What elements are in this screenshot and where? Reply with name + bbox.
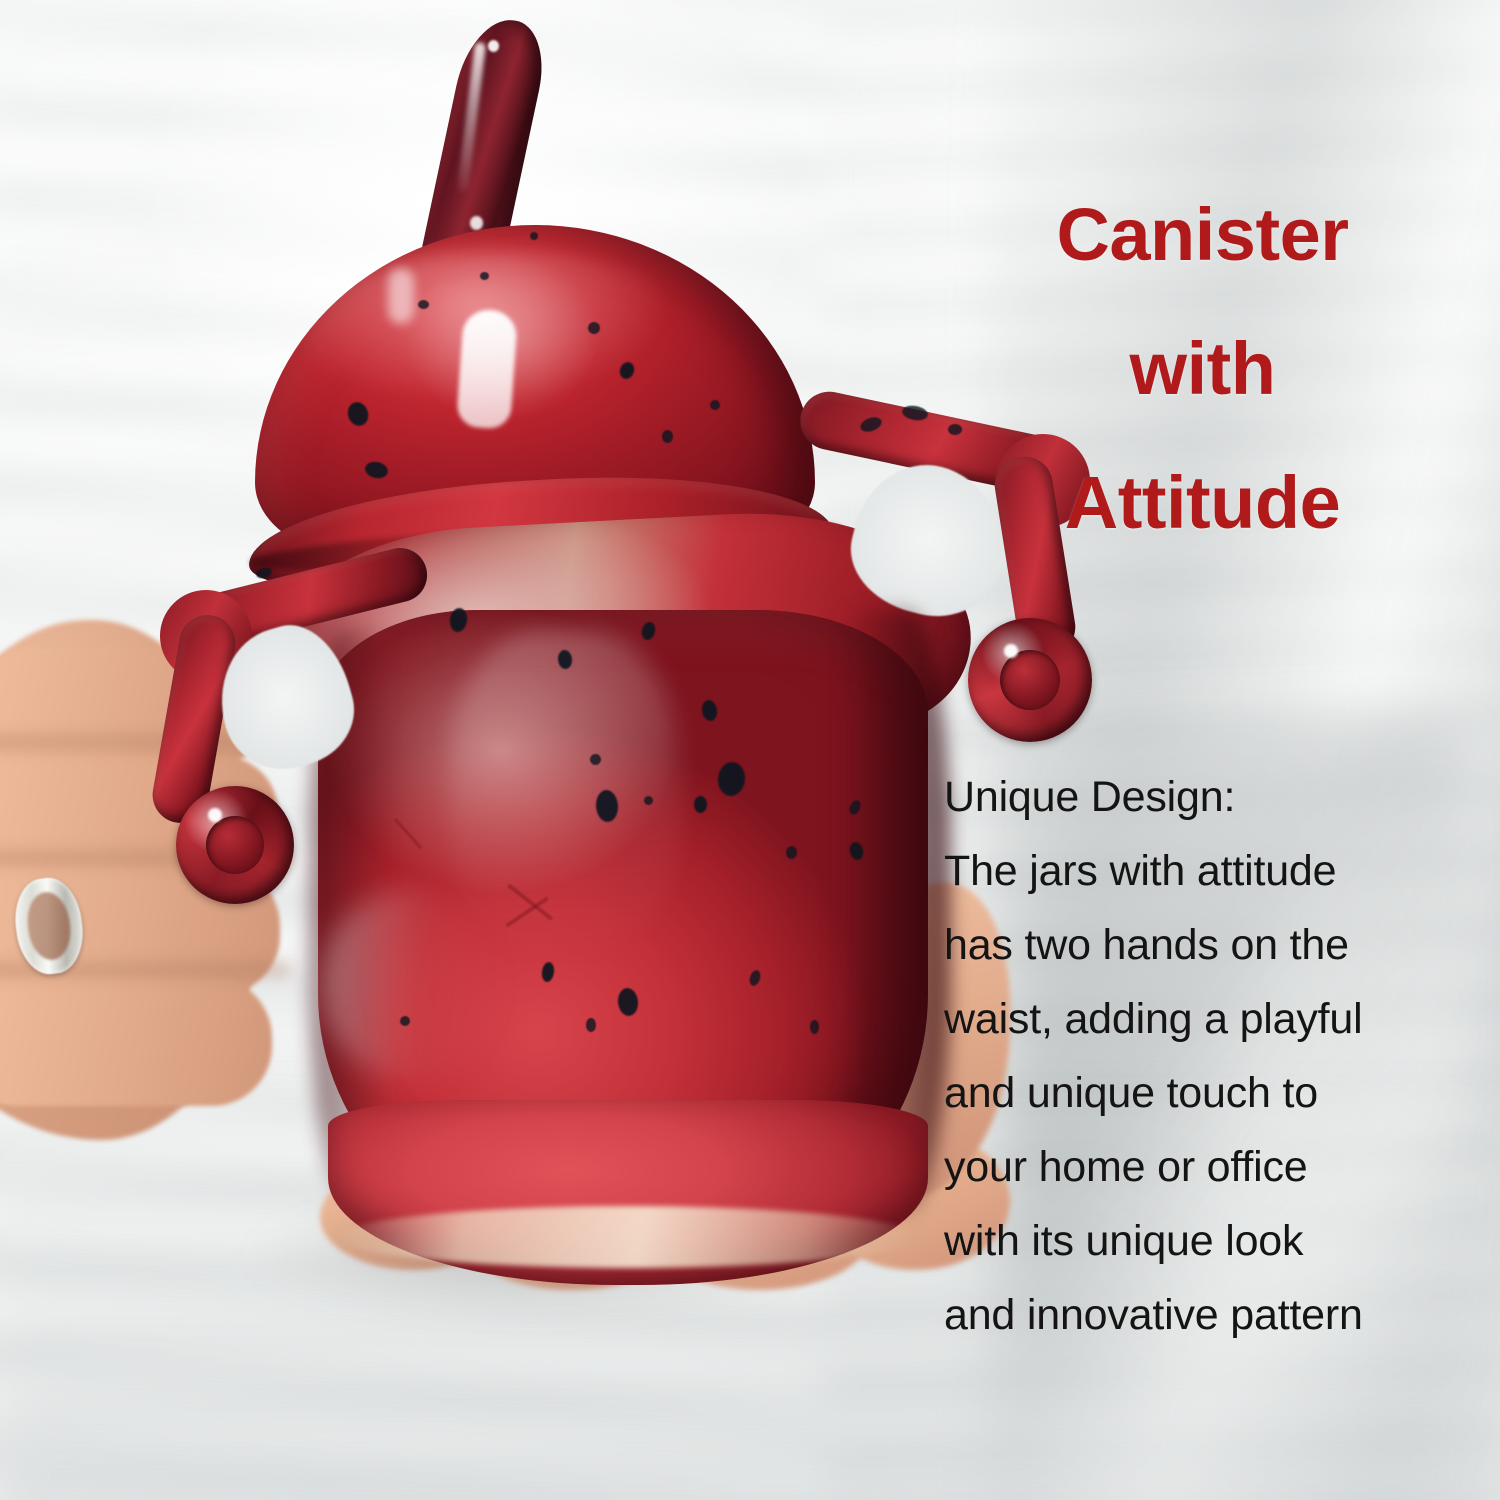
- speckle: [400, 1016, 410, 1026]
- handle-left-curl: [176, 786, 294, 904]
- feature-line-7: and innovative pattern: [944, 1278, 1474, 1352]
- body-gloss-sheen: [450, 630, 680, 960]
- headline-line-2: with: [930, 332, 1475, 406]
- speckle: [590, 754, 601, 765]
- ring-inner-shadow: [24, 890, 74, 963]
- feature-line-6: with its unique look: [944, 1204, 1474, 1278]
- feature-line-2: has two hands on the: [944, 908, 1474, 982]
- handle-left-curl-highlight: [208, 808, 222, 822]
- speckle: [586, 1018, 596, 1032]
- handle-left: [160, 550, 440, 920]
- speckle: [588, 322, 600, 334]
- finial-specular-dot-top: [488, 40, 499, 52]
- headline-line-1: Canister: [930, 198, 1475, 272]
- feature-line-4: and unique touch to: [944, 1056, 1474, 1130]
- product-image-canvas: Canister with Attitude Unique Design: Th…: [0, 0, 1500, 1500]
- speckle: [480, 272, 489, 280]
- lid-specular-highlight: [456, 308, 518, 429]
- headline-line-3: Attitude: [930, 466, 1475, 540]
- base-foot-ring: [338, 1206, 918, 1268]
- feature-description: Unique Design: The jars with attitude ha…: [944, 760, 1474, 1352]
- feature-line-5: your home or office: [944, 1130, 1474, 1204]
- speckle: [418, 300, 429, 309]
- speckle: [255, 566, 273, 580]
- feature-line-3: waist, adding a playful: [944, 982, 1474, 1056]
- speckle: [710, 400, 720, 410]
- handle-right-curl: [968, 618, 1092, 742]
- lid-secondary-highlight: [388, 268, 414, 324]
- speckle: [694, 796, 707, 813]
- feature-heading: Unique Design:: [944, 760, 1474, 834]
- speckle: [662, 430, 673, 443]
- feature-line-1: The jars with attitude: [944, 834, 1474, 908]
- finial-specular-dot-base: [470, 216, 483, 230]
- speckle: [644, 796, 653, 805]
- speckle: [948, 424, 962, 435]
- handle-right-curl-highlight: [1004, 644, 1018, 658]
- speckle: [786, 846, 797, 859]
- speckle: [530, 232, 538, 240]
- speckle: [810, 1020, 819, 1034]
